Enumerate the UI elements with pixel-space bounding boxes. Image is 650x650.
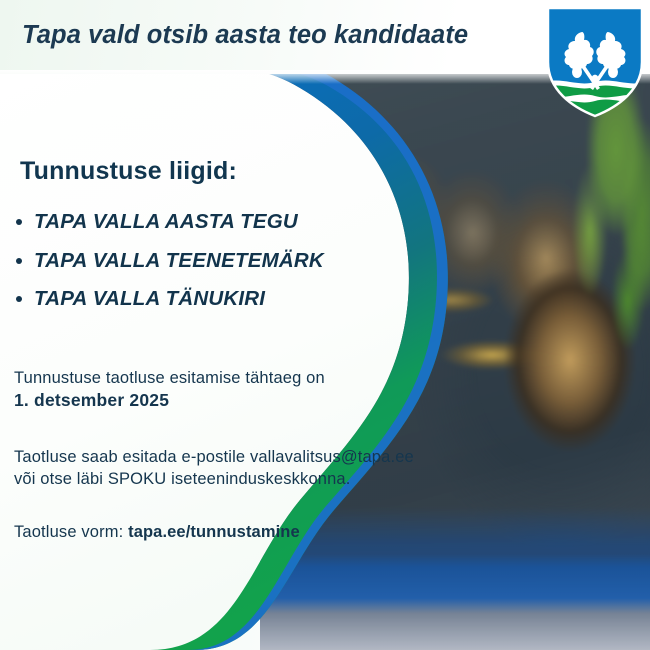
list-item: TAPA VALLA AASTA TEGU [12, 210, 324, 234]
form-url[interactable]: tapa.ee/tunnustamine [128, 523, 300, 541]
list-item: TAPA VALLA TEENETEMÄRK [12, 249, 324, 273]
deadline-block: Tunnustuse taotluse esitamise tähtaeg on… [14, 367, 325, 411]
section-heading: Tunnustuse liigid: [20, 157, 237, 186]
list-item: TAPA VALLA TÄNUKIRI [12, 287, 324, 311]
deadline-date: 1. detsember 2025 [14, 389, 325, 411]
form-block: Taotluse vorm: tapa.ee/tunnustamine [14, 521, 300, 543]
submission-line-2: või otse läbi SPOKU iseteeninduskeskkonn… [14, 468, 414, 490]
award-kinds-list: TAPA VALLA AASTA TEGU TAPA VALLA TEENETE… [12, 210, 324, 326]
poster-canvas: Tapa vald otsib aasta teo kandidaate [0, 0, 650, 650]
deadline-label: Tunnustuse taotluse esitamise tähtaeg on [14, 367, 325, 389]
form-label: Taotluse vorm: [14, 523, 123, 541]
content-column: Tunnustuse liigid: TAPA VALLA AASTA TEGU… [0, 0, 650, 650]
submission-line-1: Taotluse saab esitada e-postile vallaval… [14, 446, 414, 468]
submission-block: Taotluse saab esitada e-postile vallaval… [14, 446, 414, 490]
